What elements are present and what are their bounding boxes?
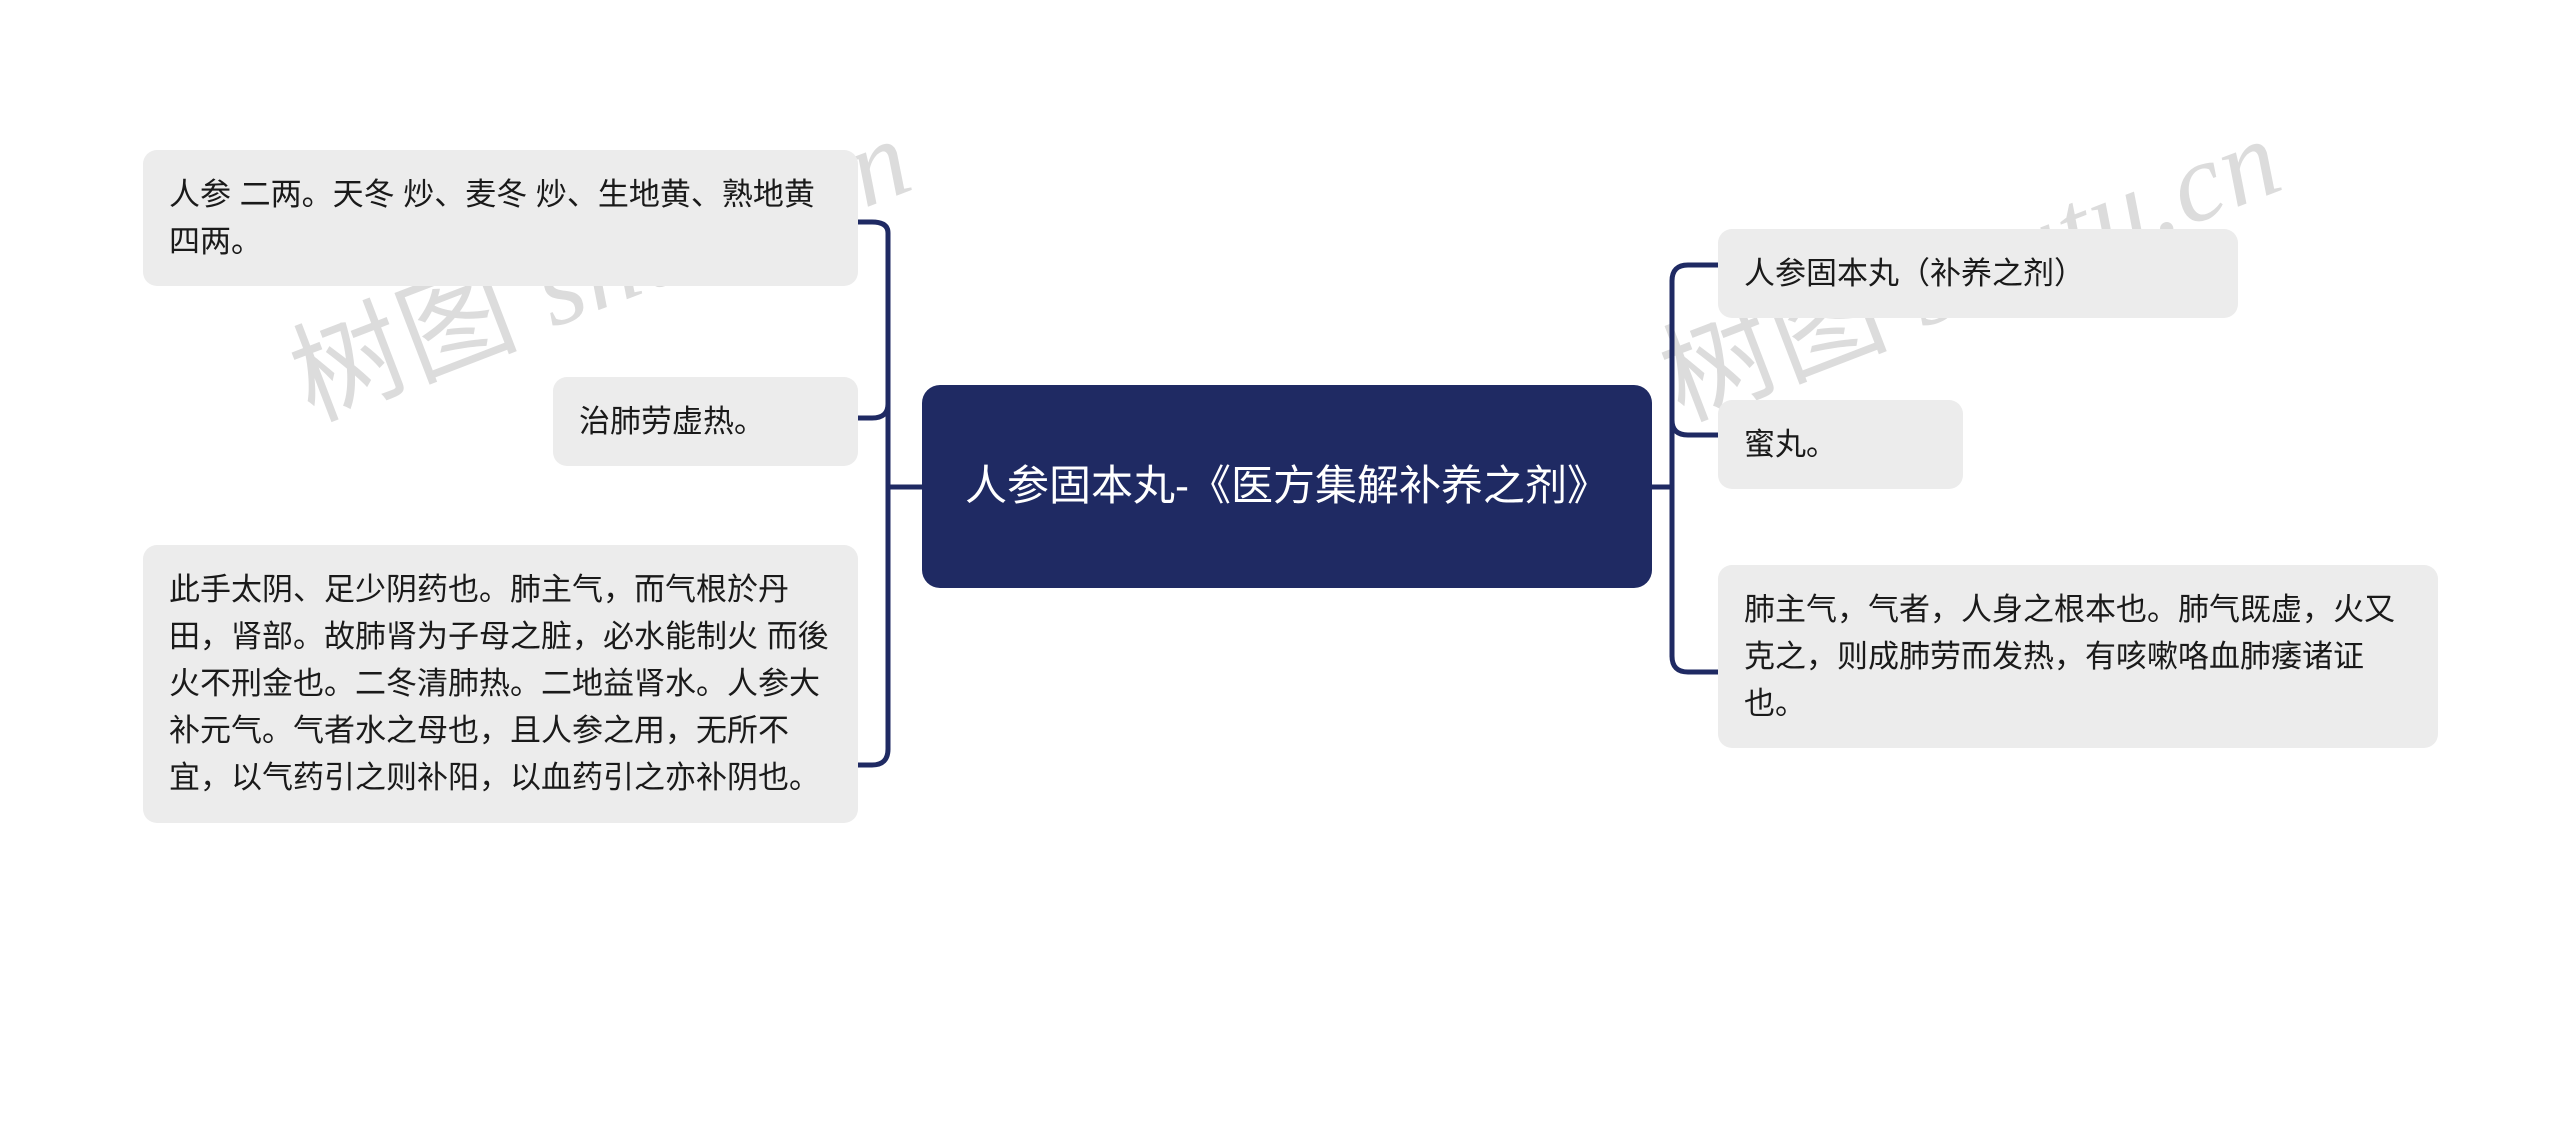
branch-node-analysis[interactable]: 此手太阴、足少阴药也。肺主气，而气根於丹田，肾部。故肺肾为子母之脏，必水能制火 … bbox=[143, 545, 858, 823]
branch-node-label: 肺主气，气者，人身之根本也。肺气既虚，火又克之，则成肺劳而发热，有咳嗽咯血肺痿诸… bbox=[1744, 586, 2412, 727]
branch-node-label: 治肺劳虚热。 bbox=[579, 398, 765, 445]
connector-right-branch-2 bbox=[1672, 420, 1718, 435]
branch-node-label: 人参 二两。天冬 炒、麦冬 炒、生地黄、熟地黄 四两。 bbox=[169, 171, 832, 265]
branch-node-pathogenesis[interactable]: 肺主气，气者，人身之根本也。肺气既虚，火又克之，则成肺劳而发热，有咳嗽咯血肺痿诸… bbox=[1718, 565, 2438, 748]
mindmap-canvas: 树图 shutu.cn 树图 shutu.cn 人参 二两。天冬 炒、麦冬 炒、… bbox=[0, 0, 2560, 1132]
connector-left-branch-3 bbox=[858, 749, 888, 765]
branch-node-formula-ingredients[interactable]: 人参 二两。天冬 炒、麦冬 炒、生地黄、熟地黄 四两。 bbox=[143, 150, 858, 286]
branch-node-preparation[interactable]: 蜜丸。 bbox=[1718, 400, 1963, 489]
branch-node-formula-name[interactable]: 人参固本丸（补养之剂） bbox=[1718, 229, 2238, 318]
connector-right-branch-3 bbox=[1672, 656, 1718, 672]
connector-left-branch-2 bbox=[858, 404, 888, 418]
branch-node-label: 人参固本丸（补养之剂） bbox=[1744, 250, 2085, 297]
connector-right-branch-1 bbox=[1672, 265, 1718, 281]
center-node-label: 人参固本丸-《医方集解补养之剂》 bbox=[965, 455, 1609, 517]
connector-left-branch-1 bbox=[858, 222, 888, 240]
center-node[interactable]: 人参固本丸-《医方集解补养之剂》 bbox=[922, 385, 1652, 588]
branch-node-label: 此手太阴、足少阴药也。肺主气，而气根於丹田，肾部。故肺肾为子母之脏，必水能制火 … bbox=[169, 566, 832, 802]
branch-node-indication[interactable]: 治肺劳虚热。 bbox=[553, 377, 858, 466]
branch-node-label: 蜜丸。 bbox=[1744, 421, 1837, 468]
